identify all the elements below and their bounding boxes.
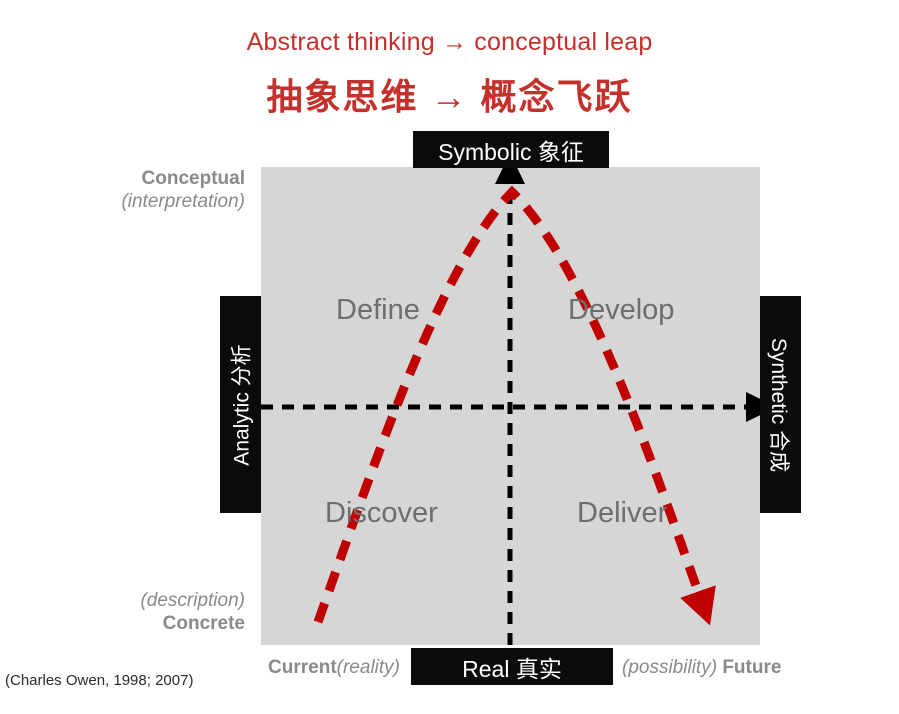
axis-box-real: Real 真实 [411,648,613,685]
axis-end-label-future: (possibility) Future [622,656,862,679]
axis-end-label-current: Current(reality) [215,656,400,679]
diagram-canvas: Abstract thinking → conceptual leap 抽象思维… [0,0,899,714]
title-english: Abstract thinking → conceptual leap [0,28,899,57]
citation-text: (Charles Owen, 1998; 2007) [5,672,193,689]
axis-end-label-conceptual-secondary: (interpretation) [0,190,245,213]
axis-box-symbolic: Symbolic 象征 [413,131,609,168]
quadrant-label-discover: Discover [325,497,438,530]
axis-end-label-concrete-secondary: (description) [0,589,245,612]
axis-end-label-current-secondary: (reality) [337,657,400,678]
axis-end-label-current-primary: Current [268,657,337,678]
axis-box-analytic: Analytic 分析 [220,296,261,513]
plot-area [261,167,760,645]
axis-end-label-conceptual: Conceptual (interpretation) [0,167,245,213]
quadrant-label-deliver: Deliver [577,497,667,530]
axis-box-synthetic: Synthetic 合成 [760,296,801,513]
quadrant-label-develop: Develop [568,294,674,327]
axis-box-analytic-label: Analytic 分析 [226,344,256,465]
axis-end-label-future-secondary: (possibility) [622,657,717,678]
axis-end-label-concrete: (description) Concrete [0,589,245,635]
axis-box-symbolic-label: Symbolic 象征 [438,133,584,167]
axis-box-synthetic-label: Synthetic 合成 [766,337,796,471]
axis-end-label-conceptual-primary: Conceptual [0,167,245,190]
axis-end-label-concrete-primary: Concrete [0,612,245,635]
title-chinese: 抽象思维 → 概念飞跃 [0,68,899,120]
axis-box-real-label: Real 真实 [462,650,562,684]
quadrant-label-define: Define [336,294,420,327]
axis-end-label-future-primary: Future [722,657,781,678]
